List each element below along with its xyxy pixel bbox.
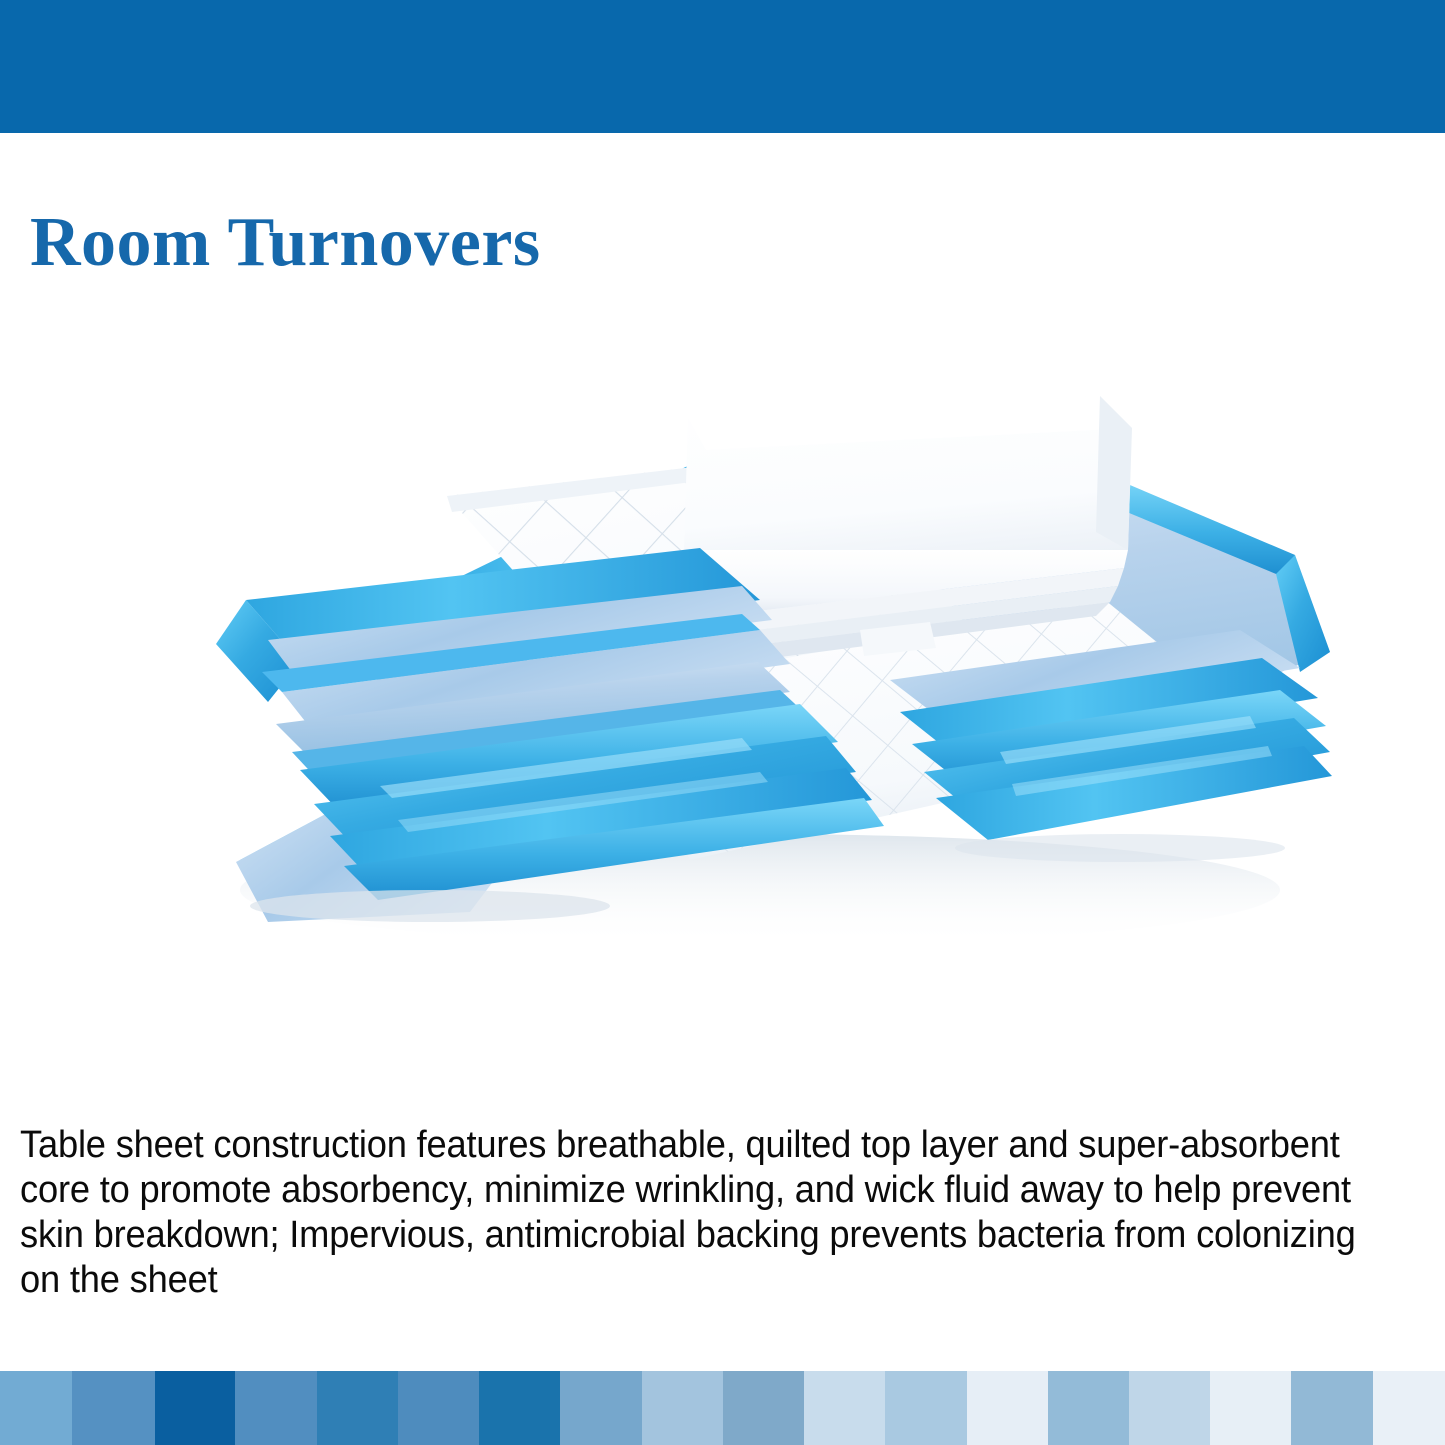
color-swatch-5 xyxy=(317,1371,398,1445)
color-swatch-6 xyxy=(398,1371,479,1445)
color-swatch-9 xyxy=(642,1371,723,1445)
top-accent-bar xyxy=(0,0,1445,133)
description-paragraph: Table sheet construction features breath… xyxy=(20,1123,1367,1303)
color-swatch-4 xyxy=(235,1371,317,1445)
color-swatch-strip xyxy=(0,1371,1445,1445)
color-swatch-17 xyxy=(1291,1371,1373,1445)
color-swatch-16 xyxy=(1210,1371,1291,1445)
color-swatch-8 xyxy=(560,1371,642,1445)
color-swatch-12 xyxy=(885,1371,967,1445)
page-title: Room Turnovers xyxy=(30,204,1130,282)
product-image xyxy=(0,300,1445,1060)
color-swatch-15 xyxy=(1129,1371,1210,1445)
color-swatch-3 xyxy=(155,1371,235,1445)
color-swatch-18 xyxy=(1373,1371,1445,1445)
color-swatch-14 xyxy=(1048,1371,1129,1445)
color-swatch-7 xyxy=(479,1371,560,1445)
color-swatch-10 xyxy=(723,1371,804,1445)
color-swatch-2 xyxy=(72,1371,155,1445)
color-swatch-13 xyxy=(967,1371,1048,1445)
color-swatch-1 xyxy=(0,1371,72,1445)
color-swatch-11 xyxy=(804,1371,885,1445)
